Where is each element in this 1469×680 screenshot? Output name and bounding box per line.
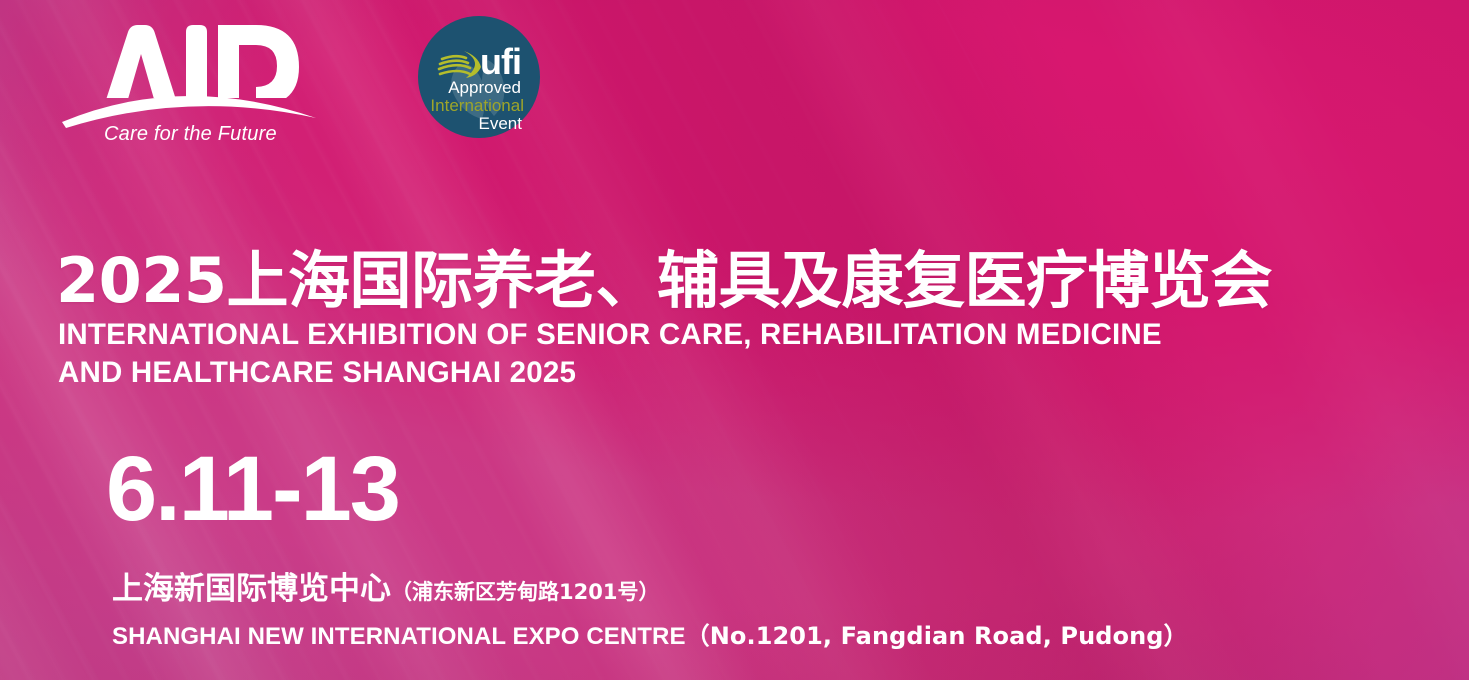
banner-header: Care for the Future: [60, 14, 540, 144]
venue-english-name: SHANGHAI NEW INTERNATIONAL EXPO CENTRE: [112, 623, 686, 650]
venue-english-address: （No.1201, Fangdian Road, Pudong）: [686, 622, 1188, 650]
aid-letters: [104, 25, 299, 106]
title-english-line-2: AND HEALTHCARE SHANGHAI 2025: [58, 354, 1162, 392]
ufi-line-international: International: [430, 96, 524, 115]
ufi-line-approved: Approved: [448, 78, 521, 97]
aid-logo-mark: Care for the Future: [60, 14, 320, 144]
aid-logo: Care for the Future: [60, 14, 320, 144]
ufi-approved-badge: ufi Approved International Event: [418, 14, 540, 144]
venue-chinese-address: （浦东新区芳甸路1201号）: [391, 580, 659, 604]
title-english-line-1: INTERNATIONAL EXHIBITION OF SENIOR CARE,…: [58, 316, 1162, 354]
ufi-line-event: Event: [479, 114, 523, 133]
ufi-wordmark: ufi: [480, 41, 521, 82]
venue-chinese-name: 上海新国际博览中心: [112, 571, 391, 607]
event-date: 6.11-13: [106, 443, 399, 535]
venue-english: SHANGHAI NEW INTERNATIONAL EXPO CENTRE（N…: [112, 616, 1188, 651]
page-title-english: INTERNATIONAL EXHIBITION OF SENIOR CARE,…: [58, 316, 1162, 392]
ufi-badge-mark: ufi Approved International Event: [418, 14, 540, 144]
venue-chinese: 上海新国际博览中心（浦东新区芳甸路1201号）: [112, 563, 659, 608]
event-banner: Care for the Future: [0, 0, 1469, 680]
aid-tagline: Care for the Future: [104, 123, 277, 144]
page-title-chinese: 2025上海国际养老、辅具及康复医疗博览会: [56, 250, 1272, 312]
